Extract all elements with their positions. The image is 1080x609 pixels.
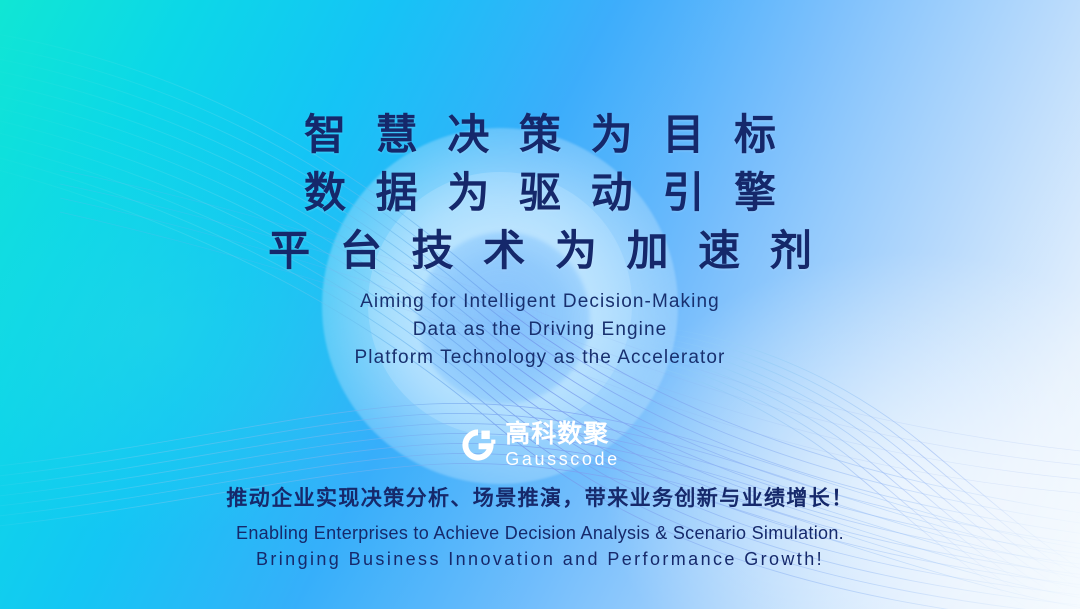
company-logo: 高科数聚 Gausscode [460,422,619,468]
slide-canvas: 智 慧 决 策 为 目 标 数 据 为 驱 动 引 擎 平 台 技 术 为 加 … [0,0,1080,609]
subheadline-line-2: Data as the Driving Engine [355,316,726,344]
subheadline-block: Aiming for Intelligent Decision-Making D… [355,288,726,372]
logo-wordmark: 高科数聚 Gausscode [505,422,619,468]
slide-content: 智 慧 决 策 为 目 标 数 据 为 驱 动 引 擎 平 台 技 术 为 加 … [0,0,1080,609]
footer-en-line-2: Bringing Business Innovation and Perform… [226,546,853,572]
subheadline-line-1: Aiming for Intelligent Decision-Making [355,288,726,316]
footer-tagline-cn: 推动企业实现决策分析、场景推演，带来业务创新与业绩增长！ [226,484,853,514]
footer-tagline-en: Enabling Enterprises to Achieve Decision… [226,520,853,572]
footer-block: 推动企业实现决策分析、场景推演，带来业务创新与业绩增长！ Enabling En… [226,484,853,572]
logo-name-en: Gausscode [505,450,619,468]
logo-name-cn: 高科数聚 [505,422,609,447]
headline-line-3: 平 台 技 术 为 加 速 剂 [259,222,821,280]
headline-line-2: 数 据 为 驱 动 引 擎 [259,164,821,222]
gausscode-g-mark-icon [460,427,496,463]
headline-block: 智 慧 决 策 为 目 标 数 据 为 驱 动 引 擎 平 台 技 术 为 加 … [259,106,821,280]
footer-en-line-1: Enabling Enterprises to Achieve Decision… [226,520,853,546]
subheadline-line-3: Platform Technology as the Accelerator [355,344,726,372]
headline-line-1: 智 慧 决 策 为 目 标 [259,106,821,164]
